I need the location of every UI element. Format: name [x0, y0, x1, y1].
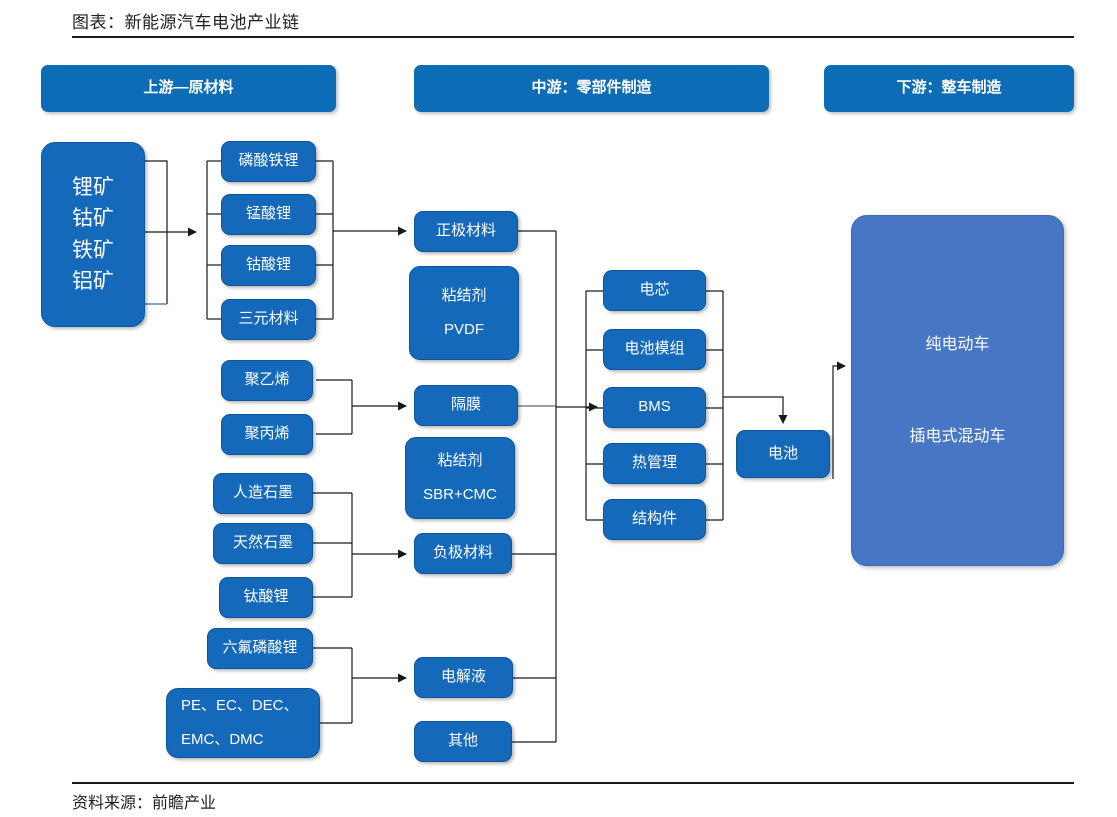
node-binder-pvdf-line-2: PVDF [444, 320, 484, 340]
raw-mineral-line-3: 铁矿 [72, 235, 114, 267]
node-electrolyte-label: 电解液 [441, 667, 486, 687]
node-cathode-material[interactable]: 正极材料 [414, 211, 518, 252]
header-downstream: 下游：整车制造 [824, 65, 1074, 112]
raw-mineral-line-1: 锂矿 [72, 172, 114, 204]
node-battery-pack-label: 电池 [768, 444, 798, 464]
node-lmo-label: 锰酸锂 [246, 204, 291, 224]
node-other-label: 其他 [448, 731, 478, 751]
raw-mineral-line-2: 钴矿 [72, 203, 114, 235]
node-solvents-line-1: PE、EC、DEC、 [181, 696, 299, 716]
node-raw-minerals[interactable]: 锂矿 钴矿 铁矿 铝矿 [41, 142, 145, 327]
node-binder-sbr-cmc-line-2: SBR+CMC [423, 485, 497, 505]
diagram-canvas: 图表：新能源汽车电池产业链 上游—原材料 中游：零部件制造 下游：整车制造 [0, 0, 1117, 817]
node-polyethylene[interactable]: 聚乙烯 [221, 360, 313, 401]
node-battery-cell[interactable]: 电芯 [603, 270, 706, 311]
node-electrolyte[interactable]: 电解液 [414, 657, 513, 698]
node-lithium-titanate-label: 钛酸锂 [243, 587, 288, 607]
header-upstream: 上游—原材料 [41, 65, 336, 112]
node-separator[interactable]: 隔膜 [414, 385, 518, 426]
node-nmc[interactable]: 三元材料 [221, 299, 316, 340]
header-midstream-label: 中游：零部件制造 [531, 78, 651, 98]
node-lithium-hexafluorophosphate-label: 六氟磷酸锂 [222, 638, 297, 658]
footer-divider [72, 782, 1074, 784]
node-structural-parts[interactable]: 结构件 [603, 499, 706, 540]
source-note: 资料来源：前瞻产业 [72, 789, 216, 813]
node-binder-pvdf-line-1: 粘结剂 [441, 286, 486, 306]
node-structural-parts-label: 结构件 [632, 509, 677, 529]
node-separator-label: 隔膜 [451, 395, 481, 415]
header-downstream-label: 下游：整车制造 [896, 78, 1001, 98]
node-lco[interactable]: 钴酸锂 [221, 245, 316, 286]
node-artificial-graphite[interactable]: 人造石墨 [213, 473, 313, 514]
node-polypropylene[interactable]: 聚丙烯 [221, 414, 313, 455]
node-polyethylene-label: 聚乙烯 [244, 370, 289, 390]
node-battery-pack[interactable]: 电池 [736, 430, 830, 478]
header-upstream-label: 上游—原材料 [143, 78, 233, 98]
node-artificial-graphite-label: 人造石墨 [233, 483, 293, 503]
node-battery-module-label: 电池模组 [624, 339, 684, 359]
node-lfp-label: 磷酸铁锂 [238, 151, 298, 171]
node-polypropylene-label: 聚丙烯 [244, 424, 289, 444]
node-anode-material[interactable]: 负极材料 [414, 533, 512, 574]
node-thermal-management-label: 热管理 [632, 453, 677, 473]
node-vehicles[interactable]: 纯电动车 插电式混动车 [851, 215, 1064, 566]
node-natural-graphite[interactable]: 天然石墨 [213, 523, 313, 564]
node-solvents[interactable]: PE、EC、DEC、 EMC、DMC [166, 688, 320, 758]
node-battery-cell-label: 电芯 [639, 280, 669, 300]
header-midstream: 中游：零部件制造 [414, 65, 769, 112]
node-lco-label: 钴酸锂 [246, 255, 291, 275]
node-anode-material-label: 负极材料 [433, 543, 493, 563]
node-binder-sbr-cmc-line-1: 粘结剂 [437, 451, 482, 471]
node-thermal-management[interactable]: 热管理 [603, 443, 706, 484]
node-binder-sbr-cmc[interactable]: 粘结剂 SBR+CMC [405, 437, 515, 519]
node-vehicles-line-2: 插电式混动车 [909, 426, 1005, 448]
node-natural-graphite-label: 天然石墨 [233, 533, 293, 553]
node-bms[interactable]: BMS [603, 387, 706, 428]
node-battery-module[interactable]: 电池模组 [603, 329, 706, 370]
node-cathode-material-label: 正极材料 [436, 221, 496, 241]
page-title: 图表：新能源汽车电池产业链 [72, 8, 300, 33]
node-solvents-line-2: EMC、DMC [181, 730, 264, 750]
title-divider [72, 36, 1074, 38]
node-lithium-titanate[interactable]: 钛酸锂 [219, 577, 313, 618]
node-binder-pvdf[interactable]: 粘结剂 PVDF [409, 266, 519, 360]
node-lithium-hexafluorophosphate[interactable]: 六氟磷酸锂 [207, 628, 313, 669]
node-other[interactable]: 其他 [414, 721, 512, 762]
node-vehicles-line-1: 纯电动车 [925, 334, 989, 356]
node-nmc-label: 三元材料 [238, 309, 298, 329]
node-bms-label: BMS [638, 397, 671, 417]
node-lfp[interactable]: 磷酸铁锂 [221, 141, 316, 182]
node-lmo[interactable]: 锰酸锂 [221, 194, 316, 235]
raw-mineral-line-4: 铝矿 [72, 266, 114, 298]
